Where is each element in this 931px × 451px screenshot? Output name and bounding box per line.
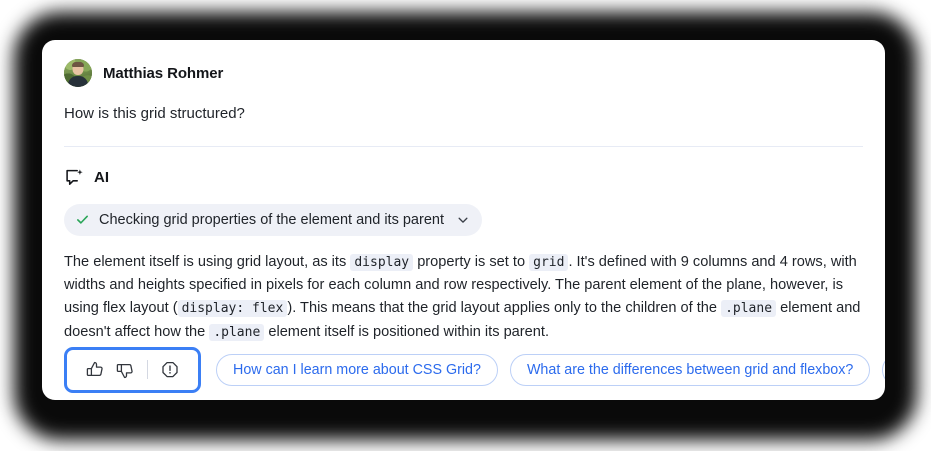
suggestion-chip[interactable] — [882, 354, 885, 386]
user-name: Matthias Rohmer — [103, 65, 223, 82]
inline-code: display: flex — [178, 300, 288, 317]
toolbar-divider — [147, 360, 148, 379]
ai-answer-text: The element itself is using grid layout,… — [64, 251, 863, 344]
chevron-down-icon[interactable] — [456, 213, 470, 227]
inline-code: grid — [529, 254, 568, 271]
ai-sparkle-bubble-icon — [64, 168, 84, 188]
feedback-toolbar[interactable] — [64, 347, 201, 393]
thumbs-up-icon[interactable] — [80, 355, 110, 385]
status-chip[interactable]: Checking grid properties of the element … — [64, 204, 482, 236]
user-message: How is this grid structured? — [64, 103, 863, 125]
ai-header: AI — [64, 167, 863, 189]
report-exclamation-icon[interactable] — [155, 355, 185, 385]
status-chip-label: Checking grid properties of the element … — [99, 212, 444, 228]
avatar-hair — [72, 62, 84, 67]
message-divider — [64, 146, 863, 147]
suggestion-chips: How can I learn more about CSS Grid?What… — [216, 347, 885, 393]
card-content: Matthias Rohmer How is this grid structu… — [42, 40, 885, 344]
check-icon — [75, 212, 90, 227]
suggestion-chip[interactable]: How can I learn more about CSS Grid? — [216, 354, 498, 386]
answer-footer: How can I learn more about CSS Grid?What… — [42, 339, 885, 400]
inline-code: .plane — [721, 300, 776, 317]
inline-code: .plane — [209, 324, 264, 341]
avatar-body — [68, 76, 88, 87]
inline-code: display — [350, 254, 413, 271]
chat-card: Matthias Rohmer How is this grid structu… — [42, 40, 885, 400]
ai-label: AI — [94, 169, 109, 186]
thumbs-down-icon[interactable] — [110, 355, 140, 385]
avatar — [64, 59, 92, 87]
user-header: Matthias Rohmer — [64, 58, 863, 88]
suggestion-chip[interactable]: What are the differences between grid an… — [510, 354, 870, 386]
